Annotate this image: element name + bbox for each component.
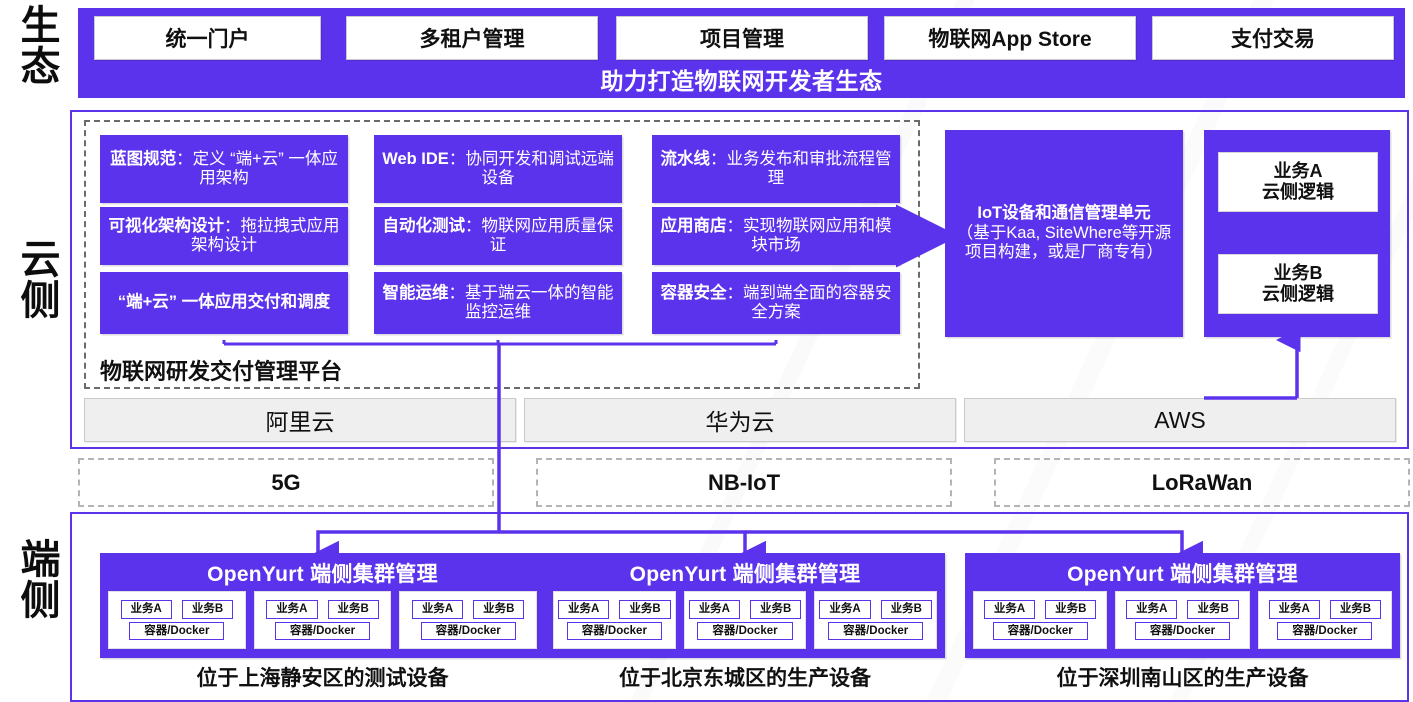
eco-chip-multi-tenant[interactable]: 多租户管理 [346,16,598,60]
cluster-caption-shenzhen: 位于深圳南山区的生产设备 [965,662,1400,692]
feature-rest-0: ：定义 “端+云” 一体应用架构 [176,150,338,187]
node-app-b: 业务B [473,600,524,618]
cloud-vendor-aws[interactable]: AWS [964,398,1396,442]
feature-rest-4: ：物联网应用质量保证 [465,217,614,254]
node-apps: 业务A 业务B [1126,600,1239,618]
cluster-node-row: 业务A 业务B 容器/Docker 业务A 业务B 容器/Docker 业务A … [973,591,1392,649]
feature-rest-1: ：协同开发和调试远端设备 [449,150,614,187]
eco-chip-project-mgmt[interactable]: 项目管理 [616,16,868,60]
edge-cluster-beijing[interactable]: OpenYurt 端侧集群管理 业务A 业务B 容器/Docker 业务A 业务… [545,553,945,658]
node-app-a: 业务A [1126,600,1177,618]
feature-bold-4: 自动化测试 [383,217,466,235]
edge-node[interactable]: 业务A 业务B 容器/Docker [399,591,537,649]
edge-node[interactable]: 业务A 业务B 容器/Docker [254,591,392,649]
edge-node[interactable]: 业务A 业务B 容器/Docker [684,591,807,649]
node-runtime: 容器/Docker [129,622,224,640]
iot-unit-title: IoT设备和通信管理单元 [977,204,1150,222]
business-b-cloud-logic[interactable]: 业务B 云侧逻辑 [1218,254,1378,314]
business-b-line2: 云侧逻辑 [1262,284,1334,304]
node-apps: 业务A 业务B [412,600,525,618]
network-lorawan[interactable]: LoRaWan [994,458,1410,507]
feature-intelligent-ops[interactable]: 智能运维：基于端云一体的智能监控运维 [374,272,622,334]
node-runtime: 容器/Docker [828,622,923,640]
rail-label-cloud: 云侧 [8,240,74,322]
edge-node[interactable]: 业务A 业务B 容器/Docker [553,591,676,649]
node-app-b: 业务B [1187,600,1238,618]
node-runtime: 容器/Docker [567,622,662,640]
node-app-b: 业务B [1330,600,1381,618]
feature-rest-5: ：实现物联网应用和模块市场 [727,217,892,254]
edge-node[interactable]: 业务A 业务B 容器/Docker [814,591,937,649]
architecture-diagram: 生态 云侧 端侧 统一门户 多租户管理 项目管理 物联网App Store 支付… [0,0,1413,702]
feature-pipeline[interactable]: 流水线：业务发布和审批流程管理 [652,135,900,203]
node-app-a: 业务A [819,600,870,618]
eco-chip-unified-portal[interactable]: 统一门户 [94,16,321,60]
node-runtime: 容器/Docker [993,622,1088,640]
cluster-title: OpenYurt 端侧集群管理 [545,559,945,587]
node-app-a: 业务A [984,600,1035,618]
feature-container-security[interactable]: 容器安全：端到端全面的容器安全方案 [652,272,900,334]
node-apps: 业务A 业务B [984,600,1097,618]
node-app-a: 业务A [1269,600,1320,618]
platform-caption: 物联网研发交付管理平台 [100,355,440,385]
feature-automated-testing[interactable]: 自动化测试：物联网应用质量保证 [374,207,622,265]
node-apps: 业务A 业务B [689,600,802,618]
node-app-a: 业务A [558,600,609,618]
cluster-caption-beijing: 位于北京东城区的生产设备 [545,662,945,692]
feature-bold-5: 应用商店 [661,217,727,235]
node-app-b: 业务B [182,600,233,618]
feature-bold-1: Web IDE [382,150,449,168]
business-a-line2: 云侧逻辑 [1262,182,1334,202]
node-runtime: 容器/Docker [697,622,792,640]
feature-bold-2: 流水线 [661,150,711,168]
node-app-a: 业务A [121,600,172,618]
rail-label-edge: 端侧 [8,540,74,622]
node-app-a: 业务A [266,600,317,618]
business-a-cloud-logic[interactable]: 业务A 云侧逻辑 [1218,152,1378,212]
node-app-b: 业务B [328,600,379,618]
edge-cluster-shenzhen[interactable]: OpenYurt 端侧集群管理 业务A 业务B 容器/Docker 业务A 业务… [965,553,1400,658]
iot-device-comm-unit[interactable]: IoT设备和通信管理单元 （基于Kaa, SiteWhere等开源项目构建，或是… [945,130,1183,337]
rail-label-ecosystem: 生态 [8,6,74,88]
edge-node[interactable]: 业务A 业务B 容器/Docker [973,591,1107,649]
node-apps: 业务A 业务B [558,600,671,618]
edge-cluster-shanghai[interactable]: OpenYurt 端侧集群管理 业务A 业务B 容器/Docker 业务A 业务… [100,553,545,658]
feature-web-ide[interactable]: Web IDE：协同开发和调试远端设备 [374,135,622,203]
feature-blueprint-spec[interactable]: 蓝图规范：定义 “端+云” 一体应用架构 [100,135,348,203]
node-app-b: 业务B [1045,600,1096,618]
cloud-vendor-huawei[interactable]: 华为云 [524,398,956,442]
cluster-title: OpenYurt 端侧集群管理 [100,559,545,587]
feature-app-store[interactable]: 应用商店：实现物联网应用和模块市场 [652,207,900,265]
node-apps: 业务A 业务B [266,600,379,618]
cluster-node-row: 业务A 业务B 容器/Docker 业务A 业务B 容器/Docker 业务A … [553,591,937,649]
feature-integrated-delivery[interactable]: “端+云” 一体应用交付和调度 [100,272,348,334]
cloud-vendor-aliyun[interactable]: 阿里云 [84,398,516,442]
edge-node[interactable]: 业务A 业务B 容器/Docker [108,591,246,649]
node-app-b: 业务B [619,600,670,618]
feature-rest-8: ：端到端全面的容器安全方案 [727,284,892,321]
node-apps: 业务A 业务B [1269,600,1382,618]
node-runtime: 容器/Docker [421,622,516,640]
cluster-node-row: 业务A 业务B 容器/Docker 业务A 业务B 容器/Docker 业务A … [108,591,537,649]
business-b-line1: 业务B [1274,263,1323,283]
network-5g[interactable]: 5G [78,458,494,507]
eco-chip-app-store[interactable]: 物联网App Store [884,16,1136,60]
node-app-b: 业务B [750,600,801,618]
feature-bold-7: 智能运维 [383,284,449,302]
node-app-b: 业务B [881,600,932,618]
node-apps: 业务A 业务B [121,600,234,618]
node-app-a: 业务A [412,600,463,618]
node-app-a: 业务A [689,600,740,618]
node-runtime: 容器/Docker [275,622,370,640]
node-apps: 业务A 业务B [819,600,932,618]
feature-bold-0: 蓝图规范 [110,150,176,168]
node-runtime: 容器/Docker [1277,622,1372,640]
business-a-line1: 业务A [1274,161,1323,181]
eco-chip-payment[interactable]: 支付交易 [1152,16,1394,60]
cluster-caption-shanghai: 位于上海静安区的测试设备 [100,662,545,692]
edge-node[interactable]: 业务A 业务B 容器/Docker [1258,591,1392,649]
ecosystem-tagline: 助力打造物联网开发者生态 [78,64,1405,94]
business-logic-column: 业务A 云侧逻辑 业务B 云侧逻辑 [1204,130,1390,337]
feature-bold-3: 可视化架构设计 [109,217,225,235]
cluster-title: OpenYurt 端侧集群管理 [965,559,1400,587]
edge-node[interactable]: 业务A 业务B 容器/Docker [1115,591,1249,649]
network-nb-iot[interactable]: NB-IoT [536,458,952,507]
node-runtime: 容器/Docker [1135,622,1230,640]
feature-bold-8: 容器安全 [661,284,727,302]
feature-rest-7: ：基于端云一体的智能监控运维 [449,284,614,321]
feature-visual-architecture[interactable]: 可视化架构设计：拖拉拽式应用架构设计 [100,207,348,265]
feature-rest-2: ：业务发布和审批流程管理 [710,150,892,187]
feature-bold-6: “端+云” 一体应用交付和调度 [118,293,330,311]
iot-unit-subtitle: （基于Kaa, SiteWhere等开源项目构建，或是厂商专有） [957,224,1172,262]
